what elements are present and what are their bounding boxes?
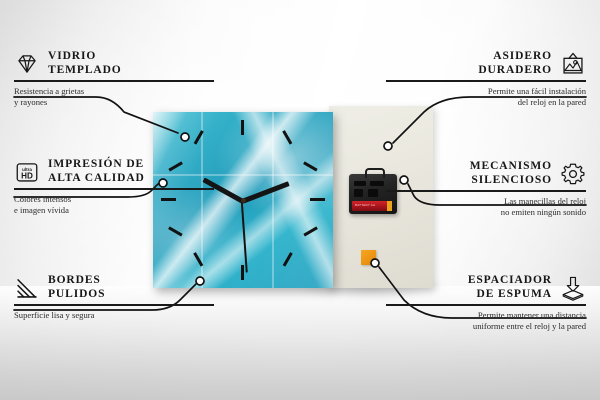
divider <box>14 304 214 306</box>
divider <box>14 80 214 82</box>
feature-description: Permite mantener una distancia uniforme … <box>386 310 586 332</box>
hour-tick-6 <box>241 265 244 280</box>
feature-title: IMPRESIÓN DE ALTA CALIDAD <box>48 158 145 185</box>
feature-vidrio-templado: VIDRIO TEMPLADO Resistencia a grietas y … <box>14 50 214 108</box>
picture-hanger-icon <box>560 51 586 77</box>
ultra-hd-icon: ultra HD <box>14 159 40 185</box>
feature-description: Las manecillas del reloj no emiten ningú… <box>386 196 586 218</box>
mechanism-slot <box>368 189 378 197</box>
mechanism-slot <box>354 181 366 186</box>
hour-tick-12 <box>241 120 244 135</box>
infographic-canvas: BATTERY AA <box>0 0 600 400</box>
clock-center-hub <box>241 198 246 203</box>
divider <box>14 188 214 190</box>
divider <box>386 304 586 306</box>
mechanism-slot <box>354 189 363 197</box>
divider <box>386 80 586 82</box>
feature-impresion-alta-calidad: ultra HD IMPRESIÓN DE ALTA CALIDAD Color… <box>14 158 214 216</box>
gear-icon <box>560 161 586 187</box>
hour-tick-3 <box>310 198 325 201</box>
foam-spacer-arrow-icon <box>560 275 586 301</box>
divider <box>386 190 586 192</box>
feature-description: Resistencia a grietas y rayones <box>14 86 214 108</box>
battery-label: BATTERY AA <box>355 203 375 207</box>
feature-description: Colores intensos e imagen vívida <box>14 194 214 216</box>
feature-espaciador-de-espuma: ESPACIADOR DE ESPUMA Permite mantener un… <box>386 274 586 332</box>
feature-description: Permite una fácil instalación del reloj … <box>386 86 586 108</box>
polished-edges-icon <box>14 275 40 301</box>
mechanism-hanger <box>365 168 385 178</box>
feature-title: ASIDERO DURADERO <box>478 50 552 77</box>
feature-title: VIDRIO TEMPLADO <box>48 50 122 77</box>
feature-description: Superficie lisa y segura <box>14 310 214 321</box>
ultra-hd-large-text: HD <box>21 171 33 180</box>
feature-asidero-duradero: ASIDERO DURADERO Permite una fácil insta… <box>386 50 586 108</box>
feature-mecanismo-silencioso: MECANISMO SILENCIOSO Las manecillas del … <box>386 160 586 218</box>
diamond-icon <box>14 51 40 77</box>
feature-bordes-pulidos: BORDES PULIDOS Superficie lisa y segura <box>14 274 214 321</box>
foam-spacer-pad <box>361 250 376 265</box>
feature-title: ESPACIADOR DE ESPUMA <box>468 274 552 301</box>
feature-title: MECANISMO SILENCIOSO <box>470 160 552 187</box>
feature-title: BORDES PULIDOS <box>48 274 105 301</box>
mechanism-slot <box>370 181 384 186</box>
